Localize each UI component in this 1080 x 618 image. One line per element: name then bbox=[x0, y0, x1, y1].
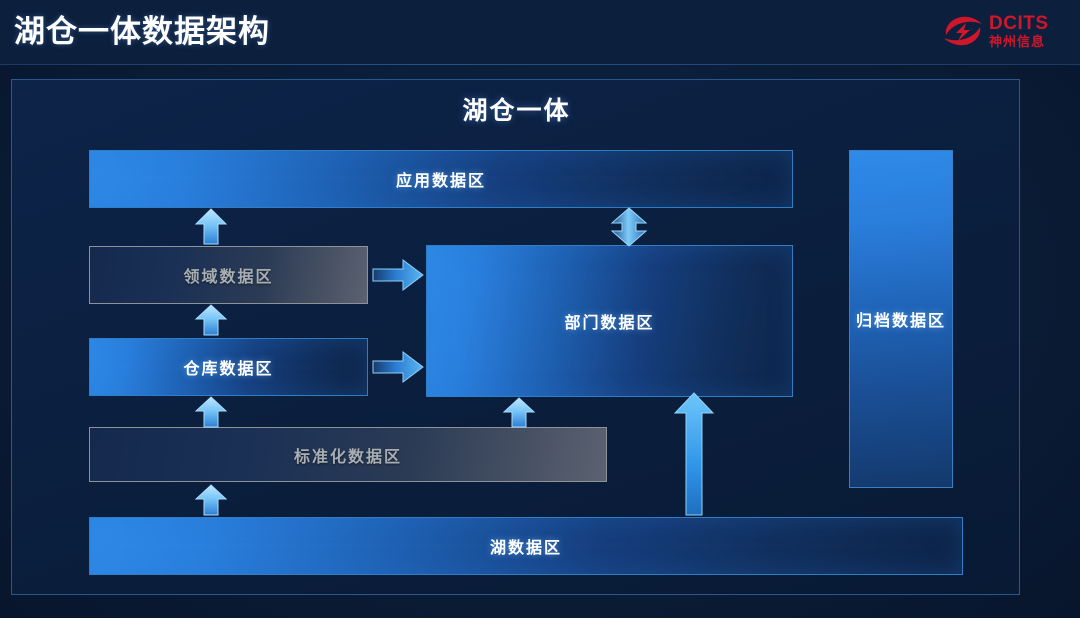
company-logo: DCITS 神州信息 bbox=[942, 9, 1068, 53]
page-title: 湖仓一体数据架构 bbox=[14, 11, 270, 53]
panel-title: 湖仓一体 bbox=[12, 91, 1021, 127]
slide-root: 湖仓一体数据架构 DCITS 神州信息 湖仓一体 应用数据区 领域数据区 仓库数… bbox=[0, 0, 1080, 618]
arrow-domain-to-dept-icon bbox=[372, 258, 424, 292]
zone-application-data[interactable]: 应用数据区 bbox=[89, 150, 793, 208]
header-divider bbox=[0, 64, 1080, 65]
arrow-lake-to-dept-icon bbox=[673, 391, 715, 517]
arrow-standard-to-dept-icon bbox=[502, 397, 536, 428]
zone-department-data[interactable]: 部门数据区 bbox=[426, 245, 793, 397]
zone-warehouse-data[interactable]: 仓库数据区 bbox=[89, 338, 368, 396]
logo-name-en: DCITS bbox=[989, 14, 1049, 33]
swirl-logo-icon bbox=[942, 12, 984, 50]
slide-header: 湖仓一体数据架构 DCITS 神州信息 bbox=[0, 0, 1080, 65]
arrow-warehouse-to-domain-icon bbox=[194, 304, 228, 336]
arrow-standard-to-warehouse-icon bbox=[194, 396, 228, 428]
zone-standardized-data[interactable]: 标准化数据区 bbox=[89, 427, 607, 482]
zone-archive-data[interactable]: 归档数据区 bbox=[849, 150, 953, 488]
arrow-lake-to-standard-icon bbox=[194, 484, 228, 516]
zone-domain-data[interactable]: 领域数据区 bbox=[89, 246, 368, 304]
arrow-warehouse-to-dept-icon bbox=[372, 350, 424, 384]
logo-text-block: DCITS 神州信息 bbox=[989, 14, 1049, 48]
arrow-app-dept-bidirectional-icon bbox=[610, 207, 648, 247]
logo-name-cn: 神州信息 bbox=[989, 35, 1049, 48]
zone-lake-data[interactable]: 湖数据区 bbox=[89, 517, 963, 575]
arrow-domain-to-app-icon bbox=[194, 208, 228, 245]
